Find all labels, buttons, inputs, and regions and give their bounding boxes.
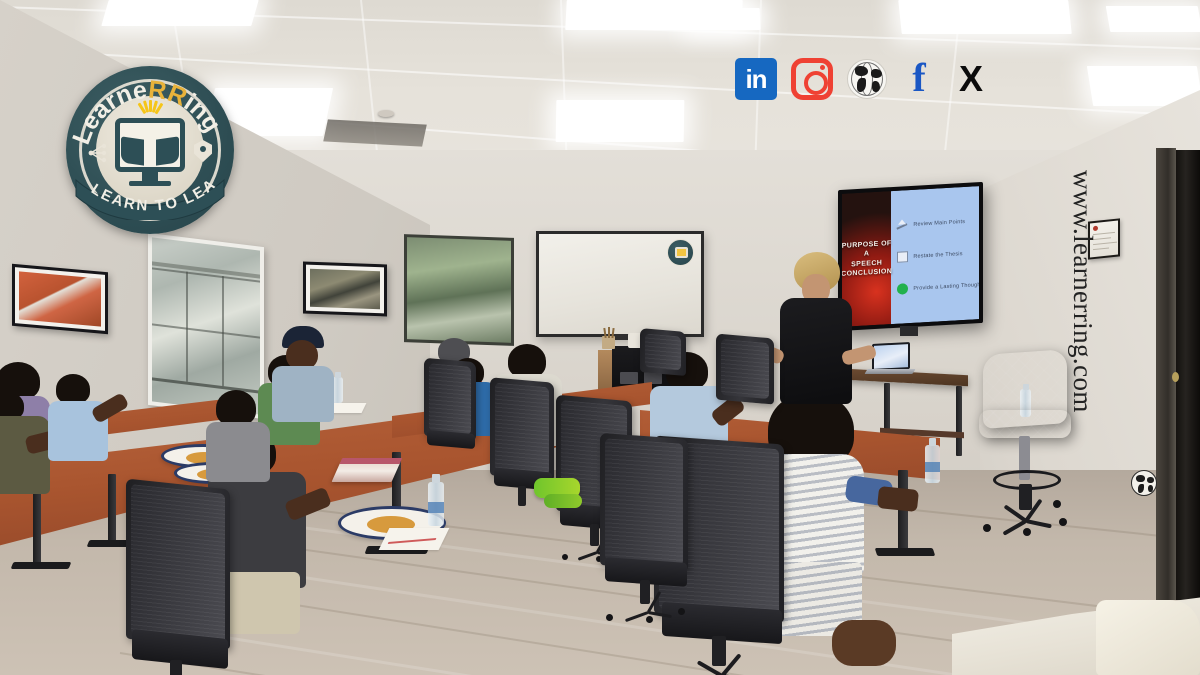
book-icon <box>156 136 179 165</box>
facebook-icon[interactable]: f <box>901 58 937 100</box>
door-knob-icon[interactable] <box>1172 372 1179 382</box>
facebook-label: f <box>901 58 937 100</box>
logo-tagline-banner: LEARN TO LEAD <box>74 174 226 220</box>
smoke-detector-icon <box>378 110 394 117</box>
classroom-photo: PURPOSE OF A SPEECH CONCLUSION Review Ma… <box>0 0 1200 675</box>
napkin <box>379 528 450 550</box>
brand-logo: LearneRRing <box>66 66 234 234</box>
globe-icon[interactable] <box>847 59 887 99</box>
x-twitter-icon[interactable]: X <box>951 58 991 100</box>
linkedin-label: in <box>735 58 777 100</box>
slide-title-line-3: CONCLUSION <box>842 267 892 279</box>
slide-bullet-2-text: Restate the Thesis <box>913 251 962 260</box>
door[interactable] <box>1176 150 1200 600</box>
x-label: X <box>951 58 991 100</box>
chart-arrow-icon <box>897 219 908 231</box>
presentation-display: PURPOSE OF A SPEECH CONCLUSION Review Ma… <box>838 182 983 331</box>
slide-bullet-3: Provide a Lasting Thought <box>897 280 973 295</box>
exterior-window <box>404 234 514 346</box>
book-icon <box>121 136 144 165</box>
slide-bullet-1: Review Main Points <box>897 216 973 231</box>
framed-helicopter-photo <box>12 264 108 334</box>
framed-airplane-photo <box>303 262 387 317</box>
slide-bullet-2: Restate the Thesis <box>897 248 973 263</box>
book <box>332 462 401 482</box>
document-icon <box>897 251 908 263</box>
slide-bullet-3-text: Provide a Lasting Thought <box>913 281 979 291</box>
slide-bullet-1-text: Review Main Points <box>913 218 965 227</box>
laptop[interactable] <box>872 342 910 371</box>
network-node-icon <box>88 142 108 164</box>
slide-bullets-panel: Review Main Points Restate the Thesis Pr… <box>891 186 979 324</box>
website-watermark: www.learnerring.com <box>1058 170 1098 490</box>
whiteboard <box>536 231 704 337</box>
interior-window <box>148 233 264 419</box>
linkedin-icon[interactable]: in <box>735 58 777 100</box>
globe-icon <box>1131 470 1157 496</box>
green-dot-icon <box>897 283 908 295</box>
green-toy <box>544 494 582 508</box>
white-cloth-fold <box>1096 600 1200 675</box>
instagram-icon[interactable] <box>791 58 833 100</box>
social-icons-bar: in f X <box>735 58 991 100</box>
